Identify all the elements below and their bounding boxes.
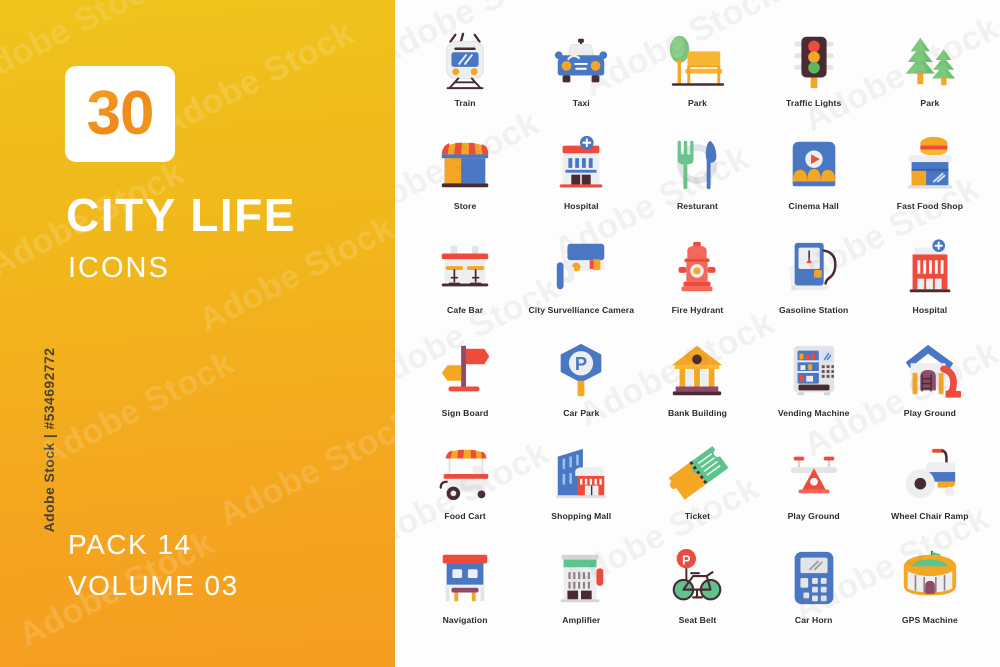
page-title: CITY LIFE (66, 192, 296, 238)
icon-cell[interactable]: Taxi (523, 24, 639, 127)
icon-cell[interactable]: Shopping Mall (523, 437, 639, 540)
watermark-text: Adobe Stock (213, 404, 395, 536)
icon-label: Hospital (913, 305, 948, 315)
icon-label: Cafe Bar (447, 305, 483, 315)
amplifier-building-icon (550, 547, 612, 609)
icon-label: Shopping Mall (551, 511, 611, 521)
icon-cell[interactable]: Hospital (523, 127, 639, 230)
icon-cell[interactable]: Sign Board (407, 334, 523, 437)
car-park-icon: P (550, 340, 612, 402)
train-icon (434, 30, 496, 92)
icon-label: Ticket (685, 511, 710, 521)
icon-label: Navigation (443, 615, 488, 625)
icon-label: Fire Hydrant (672, 305, 724, 315)
bicycle-parking-icon: P (666, 547, 728, 609)
icon-label: Food Cart (444, 511, 485, 521)
icon-cell[interactable]: Gasoline Station (756, 231, 872, 334)
play-ground-house-icon (899, 340, 961, 402)
navigation-shop-icon (434, 547, 496, 609)
gps-machine-icon (899, 547, 961, 609)
icon-cell[interactable]: P Car Park (523, 334, 639, 437)
cafe-bar-icon (434, 237, 496, 299)
icon-label: Cinema Hall (789, 201, 839, 211)
icon-cell[interactable]: Cafe Bar (407, 231, 523, 334)
car-horn-keypad-icon (783, 547, 845, 609)
icon-pack-preview: 30 CITY LIFE ICONS PACK 14 VOLUME 03 Ado… (0, 0, 1000, 667)
icon-label: Store (454, 201, 476, 211)
icon-label: Resturant (677, 201, 718, 211)
page-subtitle: ICONS (68, 254, 170, 283)
pack-label: PACK 14 (68, 525, 239, 566)
icon-cell[interactable]: Hospital (872, 231, 988, 334)
surveillance-camera-icon (550, 237, 612, 299)
icon-label: Traffic Lights (786, 98, 841, 108)
icon-grid: Train (395, 24, 1000, 644)
icon-label: Vending Machine (778, 408, 850, 418)
icon-label: Train (455, 98, 476, 108)
icon-label: Car Park (563, 408, 599, 418)
watermark-text: Adobe Stock (33, 344, 241, 476)
bank-building-icon (666, 340, 728, 402)
icon-label: Car Horn (795, 615, 833, 625)
icon-cell[interactable]: Park (872, 24, 988, 127)
icon-cell[interactable]: Traffic Lights (756, 24, 872, 127)
taxi-icon (550, 30, 612, 92)
icon-cell[interactable]: Navigation (407, 541, 523, 644)
icon-label: Play Ground (788, 511, 840, 521)
icon-label: Play Ground (904, 408, 956, 418)
wheel-chair-ramp-icon (899, 443, 961, 505)
restaurant-icon (666, 133, 728, 195)
icon-label: Park (688, 98, 707, 108)
traffic-lights-icon (783, 30, 845, 92)
icon-cell[interactable]: Car Horn (756, 541, 872, 644)
hospital-building-icon (899, 237, 961, 299)
hospital-icon (550, 133, 612, 195)
fast-food-shop-icon (899, 133, 961, 195)
icon-cell[interactable]: Wheel Chair Ramp (872, 437, 988, 540)
icon-cell[interactable]: Resturant (639, 127, 755, 230)
gasoline-station-icon (783, 237, 845, 299)
svg-text:P: P (575, 353, 587, 374)
store-icon (434, 133, 496, 195)
vending-machine-icon (783, 340, 845, 402)
icon-cell[interactable]: Play Ground (756, 437, 872, 540)
icon-cell[interactable]: Amplifier (523, 541, 639, 644)
park-bench-icon (666, 30, 728, 92)
shopping-mall-icon (550, 443, 612, 505)
icon-label: Fast Food Shop (897, 201, 963, 211)
food-cart-icon (434, 443, 496, 505)
icon-cell[interactable]: Food Cart (407, 437, 523, 540)
sign-board-icon (434, 340, 496, 402)
icon-label: City Survelliance Camera (529, 305, 635, 315)
icon-label: Taxi (573, 98, 590, 108)
icon-label: Sign Board (442, 408, 489, 418)
icon-label: Wheel Chair Ramp (891, 511, 969, 521)
icon-cell[interactable]: Train (407, 24, 523, 127)
icon-cell[interactable]: City Survelliance Camera (523, 231, 639, 334)
cinema-hall-icon (783, 133, 845, 195)
icon-cell[interactable]: P Seat Belt (639, 541, 755, 644)
ticket-icon (666, 443, 728, 505)
fire-hydrant-icon (666, 237, 728, 299)
icon-label: Hospital (564, 201, 599, 211)
icon-cell[interactable]: Bank Building (639, 334, 755, 437)
svg-text:P: P (683, 553, 691, 567)
pack-volume-label: PACK 14 VOLUME 03 (68, 525, 239, 606)
icon-cell[interactable]: Play Ground (872, 334, 988, 437)
icon-label: GPS Machine (902, 615, 958, 625)
icon-label: Seat Belt (679, 615, 717, 625)
park-trees-icon (899, 30, 961, 92)
icon-label: Bank Building (668, 408, 727, 418)
icon-label: Gasoline Station (779, 305, 848, 315)
icon-cell[interactable]: Cinema Hall (756, 127, 872, 230)
icon-count-badge: 30 (65, 66, 175, 162)
icon-count-number: 30 (87, 83, 154, 145)
icon-cell[interactable]: Fire Hydrant (639, 231, 755, 334)
watermark-text: Adobe Stock (153, 14, 361, 146)
icon-cell[interactable]: GPS Machine (872, 541, 988, 644)
icon-cell[interactable]: Park (639, 24, 755, 127)
icon-cell[interactable]: Store (407, 127, 523, 230)
icon-label: Amplifier (562, 615, 600, 625)
stock-credit-watermark: Adobe Stock | #534692772 (41, 335, 57, 545)
cover-panel: 30 CITY LIFE ICONS PACK 14 VOLUME 03 Ado… (0, 0, 395, 667)
volume-label: VOLUME 03 (68, 566, 239, 607)
icon-cell[interactable]: Vending Machine (756, 334, 872, 437)
icon-label: Park (920, 98, 939, 108)
icon-cell[interactable]: Fast Food Shop (872, 127, 988, 230)
seesaw-icon (783, 443, 845, 505)
icon-cell[interactable]: Ticket (639, 437, 755, 540)
icon-sheet: Train (395, 0, 1000, 667)
